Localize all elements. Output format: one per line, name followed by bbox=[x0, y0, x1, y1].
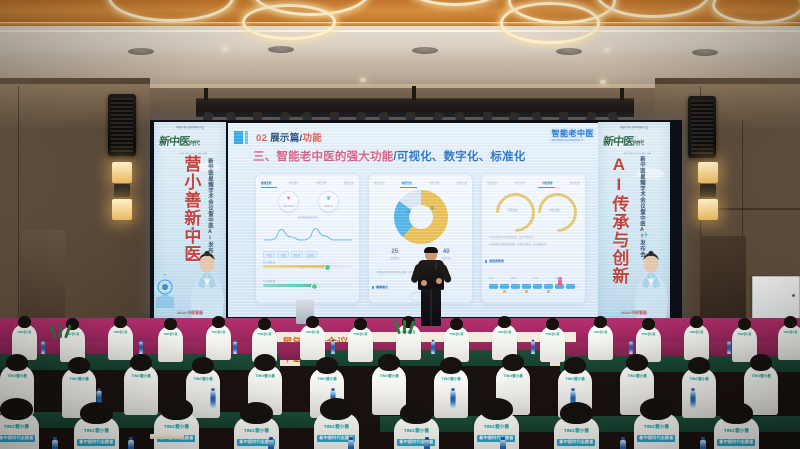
timeline-caption: 第1周 bbox=[489, 277, 494, 280]
audience-member-body: TING营小善 bbox=[682, 368, 716, 418]
audience-member-head bbox=[18, 316, 32, 328]
shirt-logo: TING营小善 bbox=[497, 330, 511, 334]
slide-title: 三、智能老中医的强大功能/可视化、数字化、标准化 bbox=[253, 148, 526, 164]
water-bottle bbox=[690, 391, 695, 408]
timeline-pill[interactable] bbox=[566, 284, 575, 289]
banner-right-top-text: 中医药·第十届学术发布大会 bbox=[598, 125, 670, 129]
card3-tab-0[interactable]: 健康监测 bbox=[487, 181, 497, 185]
qi-blood-index-track[interactable] bbox=[263, 284, 351, 287]
banner-left-headline: 营小善新中医 bbox=[182, 155, 199, 263]
lungs-icon: ❦ bbox=[326, 196, 331, 202]
slide-brand-logo-text: 智能老中医 bbox=[552, 129, 595, 138]
audience-member-head bbox=[640, 398, 674, 420]
timeline-milestone bbox=[503, 290, 506, 293]
shirt-logo: TING营小善 bbox=[69, 377, 88, 382]
water-bottle bbox=[41, 342, 45, 354]
yang-index-fill bbox=[263, 265, 326, 268]
shirt-logo: TING营小善 bbox=[724, 428, 749, 434]
card2-section-head: 健康建议 bbox=[376, 285, 388, 289]
yang-index-knob[interactable] bbox=[324, 264, 331, 271]
audience-member-head bbox=[720, 402, 754, 424]
soffit-cove-light-upper bbox=[0, 22, 800, 23]
audience-member-head bbox=[130, 354, 152, 371]
banner-left-logo-suffix: 时代 bbox=[189, 141, 200, 147]
slide-brand-logo: 智能老中医 ZHI NENG LAO ZHONG YI bbox=[552, 128, 595, 142]
shirt-logo: TING营小善 bbox=[84, 428, 109, 434]
yang-index-label: 阳气指数值 bbox=[263, 260, 351, 264]
water-bottle bbox=[233, 342, 237, 354]
whiteboard-marker-tray bbox=[792, 294, 795, 297]
water-bottle bbox=[348, 440, 354, 449]
ring-light bbox=[242, 4, 336, 40]
audience-member-head bbox=[80, 402, 114, 424]
shirt-logo: TING营小善 bbox=[627, 374, 646, 379]
timeline-caption: 第5周 bbox=[533, 277, 538, 280]
shirt-logo: TING营小善 bbox=[324, 424, 349, 430]
ceiling-downlight bbox=[222, 47, 228, 51]
heart-rate-label: 心率 77bpm bbox=[279, 204, 298, 208]
banner-right-logo-pinyin: XIN ZHONG YI SHI DAI bbox=[624, 153, 651, 155]
shirt-logo: TING营小善 bbox=[17, 330, 31, 334]
conference-hall-scene: 中医药·第十届学术发布大会 新中医时代 XIN ZHONG YI SHI DAI… bbox=[0, 0, 800, 449]
water-bottle bbox=[139, 342, 143, 354]
timeline-pill[interactable] bbox=[489, 284, 498, 289]
audience-member-body: TING营小善 bbox=[124, 365, 158, 415]
audience-member-head bbox=[450, 318, 464, 330]
audience-member-head bbox=[164, 318, 178, 330]
pulse-waveform-chart bbox=[264, 221, 352, 247]
audience-member-head bbox=[480, 398, 514, 420]
audience-member-head bbox=[502, 354, 524, 371]
card2-tab-2[interactable]: 中医调理 bbox=[429, 181, 439, 185]
heart-rate-badge[interactable]: ♥ 心率 77bpm bbox=[278, 191, 299, 212]
donut-label-yang: 阳 bbox=[431, 205, 434, 210]
banner-left-logo-text: 新中医 bbox=[158, 136, 189, 148]
shirt-logo: TING营小善 bbox=[305, 330, 319, 334]
shirt-logo: TING营小善 bbox=[565, 377, 584, 382]
wall-door-panel bbox=[700, 236, 746, 322]
audience-member-head bbox=[192, 357, 214, 374]
audience-member-head bbox=[0, 398, 33, 420]
water-bottle bbox=[629, 342, 633, 354]
shirt-logo: TING营小善 bbox=[193, 377, 212, 382]
card2-tab-1[interactable]: 体质分析 bbox=[402, 181, 412, 185]
slide-title-secondary: /可视化、数字化、标准化 bbox=[393, 151, 525, 163]
shirt-logo: TING营小善 bbox=[644, 424, 669, 430]
audience-member-head bbox=[400, 402, 434, 424]
qi-blood-index-label: 气血指数值 bbox=[263, 279, 351, 283]
shirt-logo: TING营小善 bbox=[737, 332, 751, 336]
banner-left-logo-pinyin: XIN ZHONG YI SHI DAI bbox=[180, 153, 207, 155]
crane-bird-icon: ✈ bbox=[642, 230, 650, 241]
timeline-pill[interactable] bbox=[511, 284, 520, 289]
audience-member-head bbox=[160, 398, 194, 420]
slide-kicker-number: 02 bbox=[256, 133, 267, 144]
shirt-band: 新中医时代志愿者 bbox=[0, 435, 35, 442]
water-bottle bbox=[620, 440, 626, 449]
shirt-logo: TING营小善 bbox=[131, 374, 150, 379]
shirt-logo: TING营小善 bbox=[4, 424, 29, 430]
table-plant bbox=[52, 322, 70, 338]
audience-member-head bbox=[560, 402, 594, 424]
shirt-logo: TING营小善 bbox=[255, 374, 274, 379]
shirt-logo: TING营小善 bbox=[317, 377, 336, 382]
audience-member-head bbox=[750, 354, 772, 371]
truss-leg bbox=[204, 88, 208, 100]
banner-left: 中医药·第十届学术发布大会 新中医时代 XIN ZHONG YI SHI DAI… bbox=[154, 122, 226, 318]
water-bottle bbox=[331, 342, 335, 354]
audience-member-body: TING营小善 bbox=[206, 324, 231, 360]
yang-index-track[interactable] bbox=[263, 265, 351, 268]
audience-member-head bbox=[254, 354, 276, 371]
regulation-progress-label: 调理进度 bbox=[496, 193, 529, 226]
card3-tab-2[interactable]: 中医调理 bbox=[542, 181, 552, 185]
water-bottle bbox=[500, 440, 506, 449]
banner-right-logo: 新中医时代 bbox=[602, 133, 666, 153]
donut-label-yin: 阴 bbox=[407, 209, 410, 214]
water-bottle bbox=[700, 440, 706, 449]
audience-member-head bbox=[320, 398, 354, 420]
qi-blood-index-tick: 中 bbox=[295, 284, 297, 288]
audience-member-body: TING营小善 bbox=[588, 324, 613, 360]
card3-tab-row[interactable]: 健康监测 体质分析 中医调理 健康档案 bbox=[487, 179, 580, 186]
ceiling-vent bbox=[556, 48, 582, 55]
card1-chart-caption: 连续脉象波形监测 bbox=[298, 215, 317, 219]
timeline-pill[interactable] bbox=[544, 284, 553, 289]
shirt-logo: TING营小善 bbox=[163, 332, 177, 336]
audience-member-head bbox=[626, 354, 648, 371]
audience-member-head bbox=[440, 357, 462, 374]
audience-member-head bbox=[594, 316, 608, 328]
shirt-band: 新中医时代志愿者 bbox=[477, 435, 515, 442]
shirt-logo: TING营小善 bbox=[244, 428, 269, 434]
card1-tab-1[interactable]: 体质辨识 bbox=[289, 181, 299, 185]
shirt-logo: TING营小善 bbox=[164, 424, 189, 430]
audience-member-head bbox=[738, 318, 752, 330]
water-bottle bbox=[531, 342, 535, 354]
shirt-logo: TING营小善 bbox=[404, 428, 429, 434]
shirt-band: 新中医时代志愿者 bbox=[557, 439, 595, 446]
banner-left-top-text: 中医药·第十届学术发布大会 bbox=[154, 125, 226, 129]
audience-member-body: TING营小善 bbox=[300, 324, 325, 360]
timeline-milestone bbox=[547, 290, 550, 293]
shirt-logo: TING营小善 bbox=[593, 330, 607, 334]
speaker-left-hand bbox=[421, 280, 427, 286]
banner-right: 中医药·第十届学术发布大会 新中医时代 XIN ZHONG YI SHI DAI… bbox=[598, 122, 670, 318]
ceiling-downlight bbox=[604, 48, 610, 52]
audience-member-head bbox=[258, 318, 272, 330]
audience-member-head bbox=[240, 402, 274, 424]
wall-sconce-right bbox=[698, 162, 718, 220]
card3-tab-1[interactable]: 体质分析 bbox=[515, 181, 525, 185]
shirt-band: 新中医时代志愿者 bbox=[77, 439, 115, 446]
audience-member-head bbox=[306, 316, 320, 328]
audience-member-head bbox=[354, 318, 368, 330]
banner-right-logo-text: 新中医 bbox=[602, 136, 633, 148]
pa-speaker-left bbox=[108, 94, 136, 156]
qi-blood-index-slider[interactable]: 气血指数值 中 bbox=[263, 279, 351, 287]
ceiling-vent bbox=[692, 49, 718, 56]
slide-accent-bar bbox=[234, 131, 243, 144]
ceiling-vent bbox=[412, 47, 438, 54]
card1-chip-2[interactable]: 阳虚质 bbox=[291, 251, 303, 258]
ceiling-vent bbox=[128, 48, 154, 55]
speaker-hair bbox=[424, 247, 438, 253]
tcm-doctor-illustration bbox=[630, 250, 670, 318]
shirt-logo: TING营小善 bbox=[449, 332, 463, 336]
constitution-donut-chart bbox=[394, 190, 448, 244]
qi-blood-index-fill bbox=[263, 284, 314, 287]
audience-member-head bbox=[114, 316, 128, 328]
audience-member-body: TING营小善 bbox=[108, 324, 133, 360]
shirt-logo: TING营小善 bbox=[257, 332, 271, 336]
audience-member-body: TING营小善 bbox=[684, 324, 709, 360]
heart-icon: ♥ bbox=[287, 196, 291, 202]
wall-door-panel bbox=[20, 230, 65, 322]
audience-member-head bbox=[784, 316, 798, 328]
kpi-tongue-value: 25 bbox=[390, 249, 400, 255]
card3-section-head: 调理周期表 bbox=[489, 259, 504, 263]
shirt-logo: TING营小善 bbox=[751, 374, 770, 379]
audience-member-head bbox=[212, 316, 226, 328]
shirt-logo: TING营小善 bbox=[545, 332, 559, 336]
audience-member-head bbox=[378, 354, 400, 371]
card2-tab-underline bbox=[400, 187, 417, 188]
card3-note-0: ※ 基于经典方剂库智能匹配，结合个体体质 bbox=[489, 235, 533, 239]
audience-member-head bbox=[498, 316, 512, 328]
tcm-doctor-illustration bbox=[186, 250, 226, 318]
shirt-logo: TING营小善 bbox=[353, 332, 367, 336]
card1-chip-0[interactable]: 平和质 bbox=[263, 251, 275, 258]
robot-illustration bbox=[154, 274, 180, 308]
wall-sconce-left bbox=[112, 162, 132, 220]
shirt-band: 新中医时代志愿者 bbox=[717, 439, 755, 446]
ceiling-downlight bbox=[360, 78, 366, 82]
audience-member-head bbox=[690, 316, 704, 328]
slide-kicker: 02 展示篇/功能 bbox=[256, 130, 322, 144]
timeline-pill[interactable] bbox=[533, 284, 542, 289]
slide-card-health-monitoring[interactable]: 健康监测 体质辨识 中医调理 健康档案 ♥ 心率 77bpm ❦ 呼吸 16 连… bbox=[256, 175, 359, 303]
truss-leg bbox=[620, 88, 624, 100]
audience-member-body: TING营小善 bbox=[158, 326, 183, 362]
audience-member-head bbox=[546, 318, 560, 330]
ring-light bbox=[500, 2, 600, 44]
regulation-timeline[interactable]: 第1周 第3周 第5周 第7周 bbox=[489, 278, 578, 294]
banner-right-logo-suffix: 时代 bbox=[633, 141, 644, 147]
shirt-band: 新中医时代志愿者 bbox=[637, 435, 675, 442]
water-bottle bbox=[424, 440, 430, 449]
card2-tab-row[interactable]: 健康监测 体质分析 中医调理 健康档案 bbox=[374, 179, 467, 186]
card1-constitution-chips[interactable]: 平和质 气虚质 阳虚质 痰湿质 bbox=[263, 251, 317, 258]
kpi-tongue: 25 舌象指标 bbox=[390, 249, 400, 260]
timeline-caption: 第3周 bbox=[511, 277, 516, 280]
shirt-logo: TING营小善 bbox=[783, 330, 797, 334]
wall-seam bbox=[18, 86, 19, 336]
card1-chip-3[interactable]: 痰湿质 bbox=[305, 251, 317, 258]
kpi-tongue-caption: 舌象指标 bbox=[390, 256, 400, 260]
slide-kicker-sub: 功能 bbox=[302, 133, 322, 144]
shirt-logo: TING营小善 bbox=[113, 330, 127, 334]
audience-member-body: TING营小善 bbox=[348, 326, 373, 362]
soffit-cove-light bbox=[0, 30, 800, 32]
table-papers bbox=[150, 434, 184, 439]
shirt-logo: TING营小善 bbox=[689, 377, 708, 382]
card2-tab-3[interactable]: 健康档案 bbox=[457, 181, 467, 185]
card3-note-1: ※ 建议结合饮食起居调摄，定期复诊评估，动态调整方案 bbox=[489, 242, 547, 246]
audience-member-body: TING营小善 bbox=[540, 326, 565, 362]
audience-member-head bbox=[316, 357, 338, 374]
ceiling-downlight bbox=[600, 80, 606, 84]
card1-chip-1[interactable]: 气虚质 bbox=[277, 251, 289, 258]
card1-tab-underline bbox=[261, 187, 277, 188]
crane-bird-icon: ✈ bbox=[188, 226, 196, 237]
shirt-logo: TING营小善 bbox=[484, 424, 509, 430]
recovery-index-label: 恢复指数 bbox=[538, 193, 571, 226]
banner-right-headline: AI传承与创新 bbox=[610, 155, 627, 285]
shirt-logo: TING营小善 bbox=[641, 332, 655, 336]
table-plant bbox=[396, 318, 414, 334]
water-bottle bbox=[450, 391, 455, 408]
speaker-right-hand bbox=[436, 278, 442, 284]
water-bottle bbox=[431, 342, 435, 354]
banner-left-side-text: 新中医星耀学术会议暨中医AI发布会 bbox=[206, 158, 214, 270]
water-bottle bbox=[210, 391, 215, 408]
handheld-microphone bbox=[435, 262, 437, 270]
timeline-milestone bbox=[525, 290, 528, 293]
shirt-logo: TING营小善 bbox=[7, 374, 26, 379]
audience-member-head bbox=[6, 354, 28, 371]
audience-member-head bbox=[68, 357, 90, 374]
audience-area: TING营小善TING营小善TING营小善TING营小善TING营小善TING营… bbox=[0, 314, 800, 449]
card3-tab-underline bbox=[538, 187, 555, 188]
water-bottle bbox=[128, 440, 134, 449]
card3-tab-3[interactable]: 健康档案 bbox=[570, 181, 580, 185]
yang-index-slider[interactable]: 阳气指数值 低 bbox=[263, 260, 351, 268]
donut-hole bbox=[409, 205, 433, 229]
shirt-logo: TING营小善 bbox=[211, 330, 225, 334]
banner-right-side-text: 新中医星耀学术会议暨中医AI发布会 bbox=[638, 156, 646, 274]
shirt-logo: TING营小善 bbox=[503, 374, 522, 379]
slide-title-primary: 三、智能老中医的强大功能 bbox=[253, 151, 393, 163]
banner-left-logo: 新中医时代 bbox=[158, 133, 222, 153]
audience-member-head bbox=[688, 357, 710, 374]
card2-tab-0[interactable]: 健康监测 bbox=[374, 181, 384, 185]
audience-member-head bbox=[564, 357, 586, 374]
yang-index-tick: 低 bbox=[302, 265, 304, 269]
water-bottle bbox=[268, 440, 274, 449]
shirt-logo: TING营小善 bbox=[564, 428, 589, 434]
qi-blood-index-knob[interactable] bbox=[311, 283, 318, 290]
pa-speaker-right bbox=[688, 96, 716, 158]
timeline-caption: 第7周 bbox=[555, 277, 560, 280]
truss-leg bbox=[412, 86, 416, 100]
slide-kicker-main: 展示篇 bbox=[270, 133, 299, 144]
slide-card-tcm-regulation[interactable]: 健康监测 体质分析 中医调理 健康档案 调理进度 恢复指数 ※ 基于经典方剂库智… bbox=[482, 175, 585, 303]
ceiling-vent bbox=[268, 46, 294, 53]
lighting-truss bbox=[196, 98, 634, 112]
shirt-logo: TING营小善 bbox=[379, 374, 398, 379]
water-bottle bbox=[727, 342, 731, 354]
shirt-logo: TING营小善 bbox=[441, 377, 460, 382]
audience-member-head bbox=[642, 318, 656, 330]
card1-tab-row[interactable]: 健康监测 体质辨识 中医调理 健康档案 bbox=[261, 179, 354, 186]
timeline-pill[interactable] bbox=[522, 284, 531, 289]
water-bottle bbox=[52, 440, 58, 449]
respiration-badge[interactable]: ❦ 呼吸 16 bbox=[318, 191, 339, 212]
card1-tab-3[interactable]: 健康档案 bbox=[344, 181, 354, 185]
respiration-label: 呼吸 16 bbox=[319, 204, 338, 208]
card1-tab-2[interactable]: 中医调理 bbox=[316, 181, 326, 185]
slide-accent-bar-thin bbox=[245, 131, 248, 144]
audience-member-body: TING营小善 bbox=[778, 324, 800, 360]
timeline-pill[interactable] bbox=[500, 284, 509, 289]
shirt-logo: TING营小善 bbox=[689, 330, 703, 334]
slide-brand-logo-pinyin: ZHI NENG LAO ZHONG YI bbox=[552, 139, 595, 142]
card1-tab-0[interactable]: 健康监测 bbox=[261, 181, 271, 185]
